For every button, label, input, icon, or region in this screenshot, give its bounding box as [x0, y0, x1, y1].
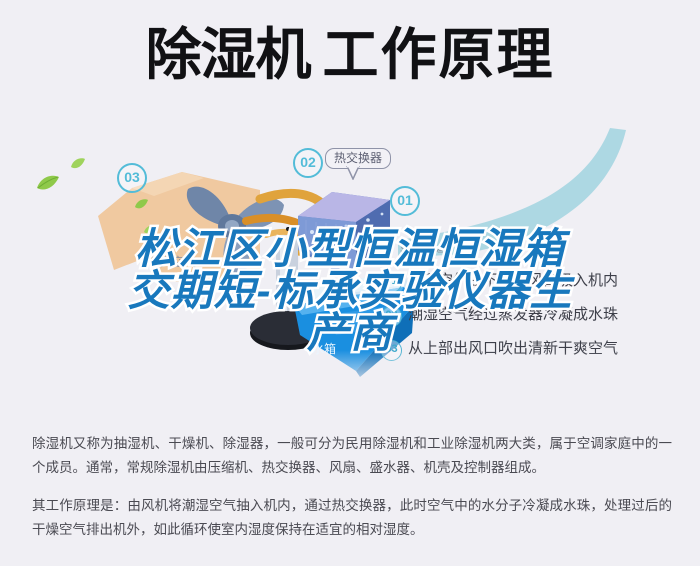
article-body: 除湿机又称为抽湿机、干燥机、除湿器，一般可分为民用除湿机和工业除湿机两大类，属于…: [32, 418, 672, 556]
badge-01: 01: [390, 186, 420, 216]
page-title: 除湿机工作原理: [0, 26, 700, 85]
step-text: 潮湿空气经过蒸发器冷凝成水珠: [408, 304, 618, 325]
label-humid-air: 潮湿空气: [400, 244, 448, 261]
leaf-icon: [143, 224, 157, 235]
leaf-icon: [36, 174, 60, 192]
heat-exchanger-icon: [298, 186, 403, 272]
label-dry-air: 干爽空气: [148, 253, 196, 270]
infographic-banner: 除湿机工作原理: [0, 0, 700, 410]
badge-02: 02: [293, 148, 323, 178]
step-number: 01: [381, 272, 402, 293]
step-text: 潮湿空气由下部进风口吸入机内: [408, 270, 618, 291]
step-number: 02: [381, 306, 402, 327]
paragraph: 其工作原理是：由风机将潮湿空气抽入机内，通过热交换器，此时空气中的水分子冷凝成水…: [32, 494, 672, 542]
paragraph: 除湿机又称为抽湿机、干燥机、除湿器，一般可分为民用除湿机和工业除湿机两大类，属于…: [32, 432, 672, 480]
page-title-part-b: 工作原理: [323, 23, 555, 86]
banner-bottom-fade: [0, 350, 700, 410]
badge-03: 03: [117, 163, 147, 193]
page-title-part-a: 除湿机: [146, 23, 311, 86]
list-item: 01 潮湿空气由下部进风口吸入机内: [381, 270, 691, 293]
page-root: 除湿机工作原理: [0, 0, 700, 566]
list-item: 02 潮湿空气经过蒸发器冷凝成水珠: [381, 304, 691, 327]
callout-tail-icon: [345, 166, 361, 180]
leaf-icon: [134, 198, 149, 210]
leaf-icon: [70, 157, 86, 170]
